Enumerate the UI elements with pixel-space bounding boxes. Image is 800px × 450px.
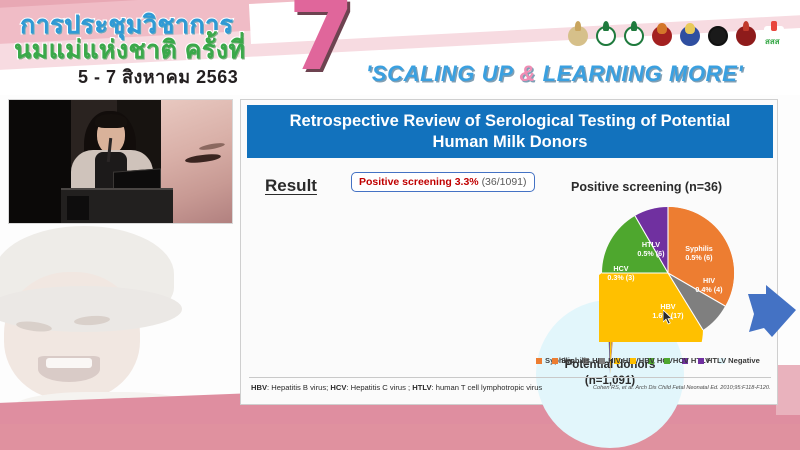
legend-item-hbv-2: HBV xyxy=(630,356,655,365)
podium-front-panel xyxy=(67,196,89,220)
logo-ministry-public-health-2 xyxy=(622,24,646,51)
tagline-ampersand: & xyxy=(519,61,536,86)
baby-teeth xyxy=(46,358,92,368)
legend-item-htlv-2: HTLV xyxy=(698,356,726,365)
conference-edition-number: 7 xyxy=(288,0,355,84)
conference-date-thai: 5 - 7 สิงหาคม 2563 xyxy=(78,62,238,91)
logo-black-circle xyxy=(706,24,730,51)
mouse-cursor-icon xyxy=(663,310,674,325)
legend-item-syphilis-2: Syphilis xyxy=(552,356,590,365)
logo-royal-seal xyxy=(566,24,590,51)
source-citation: Cohen RS, et al. Arch Dis Child Fetal Ne… xyxy=(593,385,771,391)
logo-red-emblem xyxy=(650,24,674,51)
logo-dark-red-circle xyxy=(734,24,758,51)
callout-fraction-text: (36/1091) xyxy=(482,176,527,188)
speaker-fringe xyxy=(95,114,127,128)
result-heading: Result xyxy=(265,176,317,196)
legend-item-hiv-2: HIV xyxy=(599,356,621,365)
conference-tagline: 'SCALING UP & LEARNING MORE' xyxy=(366,61,743,87)
abbreviations-footnote: HBV: Hepatitis B virus; HCV: Hepatitis C… xyxy=(251,383,542,392)
speaker-video-thumbnail[interactable] xyxy=(8,99,233,224)
slide-title: Retrospective Review of Serological Test… xyxy=(247,105,773,158)
positive-screening-chart-title: Positive screening (n=36) xyxy=(571,180,722,194)
footnote-htlv-def: : human T cell lymphotropic virus xyxy=(432,383,543,392)
positive-screening-legend: Syphilis HIV HBV HCV HTLV xyxy=(552,356,726,365)
footnote-htlv-key: HTLV xyxy=(412,383,431,392)
blue-down-right-arrow-icon xyxy=(746,284,798,339)
tagline-part1: 'SCALING UP xyxy=(366,61,519,86)
sponsor-logo-row: สสส xyxy=(566,24,786,51)
tagline-part2: LEARNING MORE' xyxy=(536,61,743,86)
logo-royal-crest xyxy=(678,24,702,51)
logo-ministry-public-health-1 xyxy=(594,24,618,51)
callout-highlight-text: Positive screening 3.3% xyxy=(359,176,479,188)
footnote-hbv-key: HBV xyxy=(251,383,267,392)
footnote-divider xyxy=(249,377,771,378)
presentation-slide[interactable]: Retrospective Review of Serological Test… xyxy=(240,99,778,405)
conference-header-banner: การประชุมวิชาการ นมแม่แห่งชาติ ครั้งที่ … xyxy=(0,0,800,95)
footnote-hcv-key: HCV xyxy=(330,383,346,392)
footnote-hcv-def: : Hepatitis C virus ; xyxy=(346,383,412,392)
legend-item-hcv-2: HCV xyxy=(664,356,689,365)
right-pink-edge xyxy=(776,365,800,415)
positive-screening-callout: Positive screening 3.3% (36/1091) xyxy=(351,172,535,192)
footnote-hbv-def: : Hepatitis B virus; xyxy=(267,383,330,392)
screenshot-root: การประชุมวิชาการ นมแม่แห่งชาติ ครั้งที่ … xyxy=(0,0,800,450)
logo-thaihealth-sss: สสส xyxy=(762,24,786,51)
